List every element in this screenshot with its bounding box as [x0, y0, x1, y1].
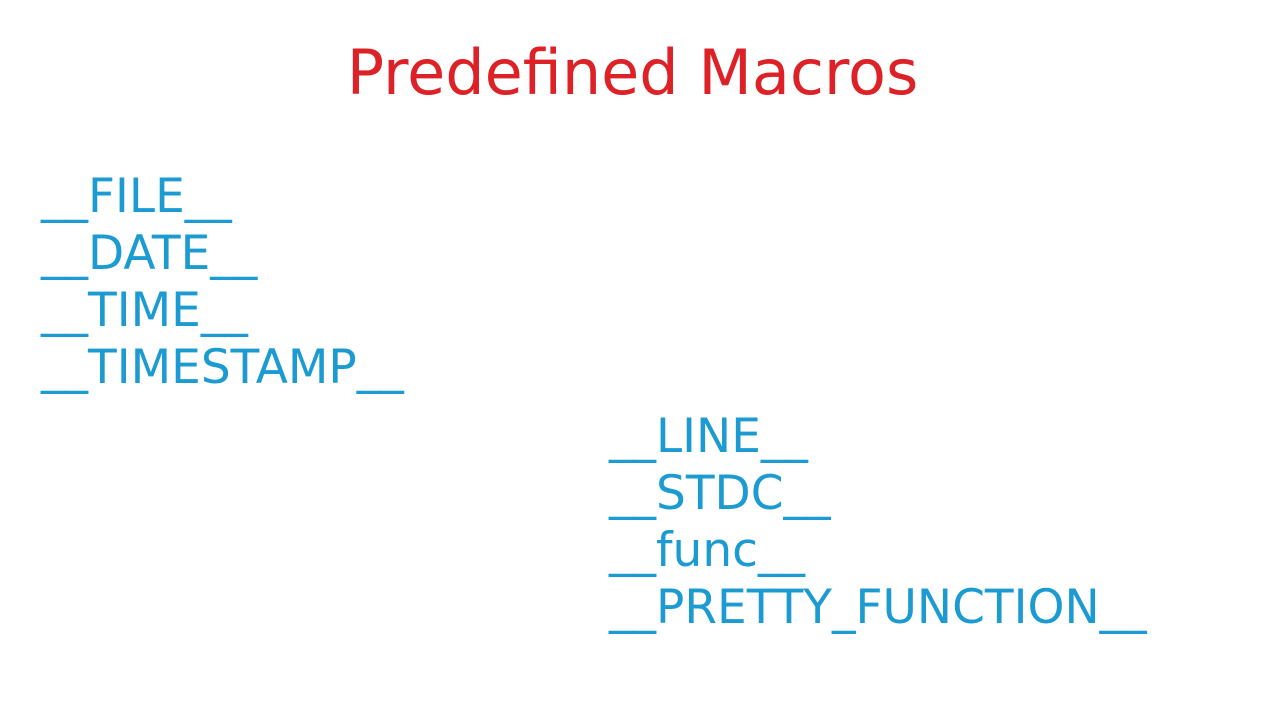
macro-item-file: __FILE__ [41, 168, 404, 225]
macro-item-time: __TIME__ [41, 282, 404, 339]
macro-item-stdc: __STDC__ [609, 465, 1147, 522]
slide-canvas: Predefined Macros __FILE__ __DATE__ __TI… [0, 0, 1280, 720]
macro-item-line: __LINE__ [609, 408, 1147, 465]
macro-list-right: __LINE__ __STDC__ __func__ __PRETTY_FUNC… [609, 408, 1147, 636]
macro-item-date: __DATE__ [41, 225, 404, 282]
macro-item-func: __func__ [609, 522, 1147, 579]
macro-list-left: __FILE__ __DATE__ __TIME__ __TIMESTAMP__ [41, 168, 404, 396]
macro-item-pretty-function: __PRETTY_FUNCTION__ [609, 579, 1147, 636]
macro-item-timestamp: __TIMESTAMP__ [41, 339, 404, 396]
page-title: Predefined Macros [0, 40, 1265, 105]
